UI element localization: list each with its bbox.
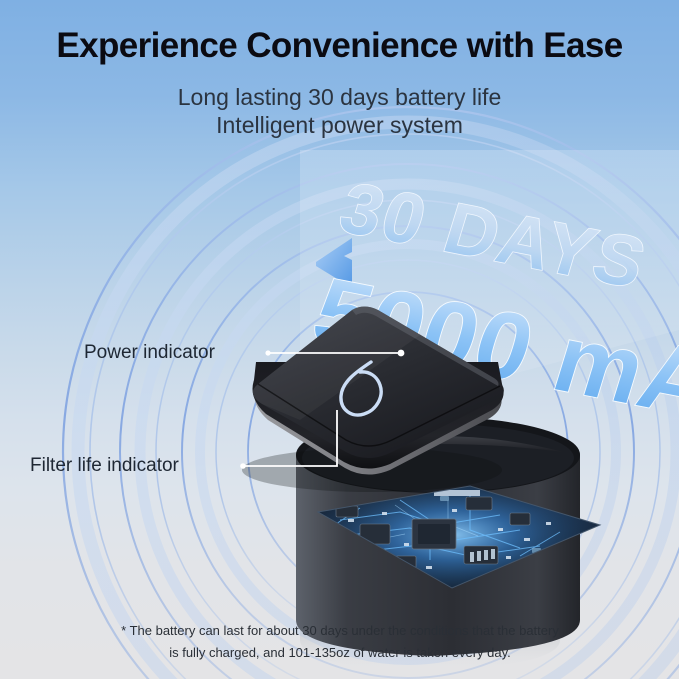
product-feature-graphic: 30 DAYS 5000 mAh	[0, 0, 679, 679]
callout-label-power-indicator: Power indicator	[84, 342, 215, 364]
footnote-line-1: * The battery can last for about 30 days…	[60, 620, 620, 642]
subtitle-line-2: Intelligent power system	[0, 110, 679, 140]
device-lid	[242, 307, 504, 493]
subtitle-line-1: Long lasting 30 days battery life	[0, 82, 679, 112]
footnote-line-2: is fully charged, and 101-135oz of water…	[60, 642, 620, 664]
page-title: Experience Convenience with Ease	[0, 24, 679, 68]
footnote: * The battery can last for about 30 days…	[60, 620, 620, 664]
callout-label-filter-life-indicator: Filter life indicator	[30, 455, 179, 477]
